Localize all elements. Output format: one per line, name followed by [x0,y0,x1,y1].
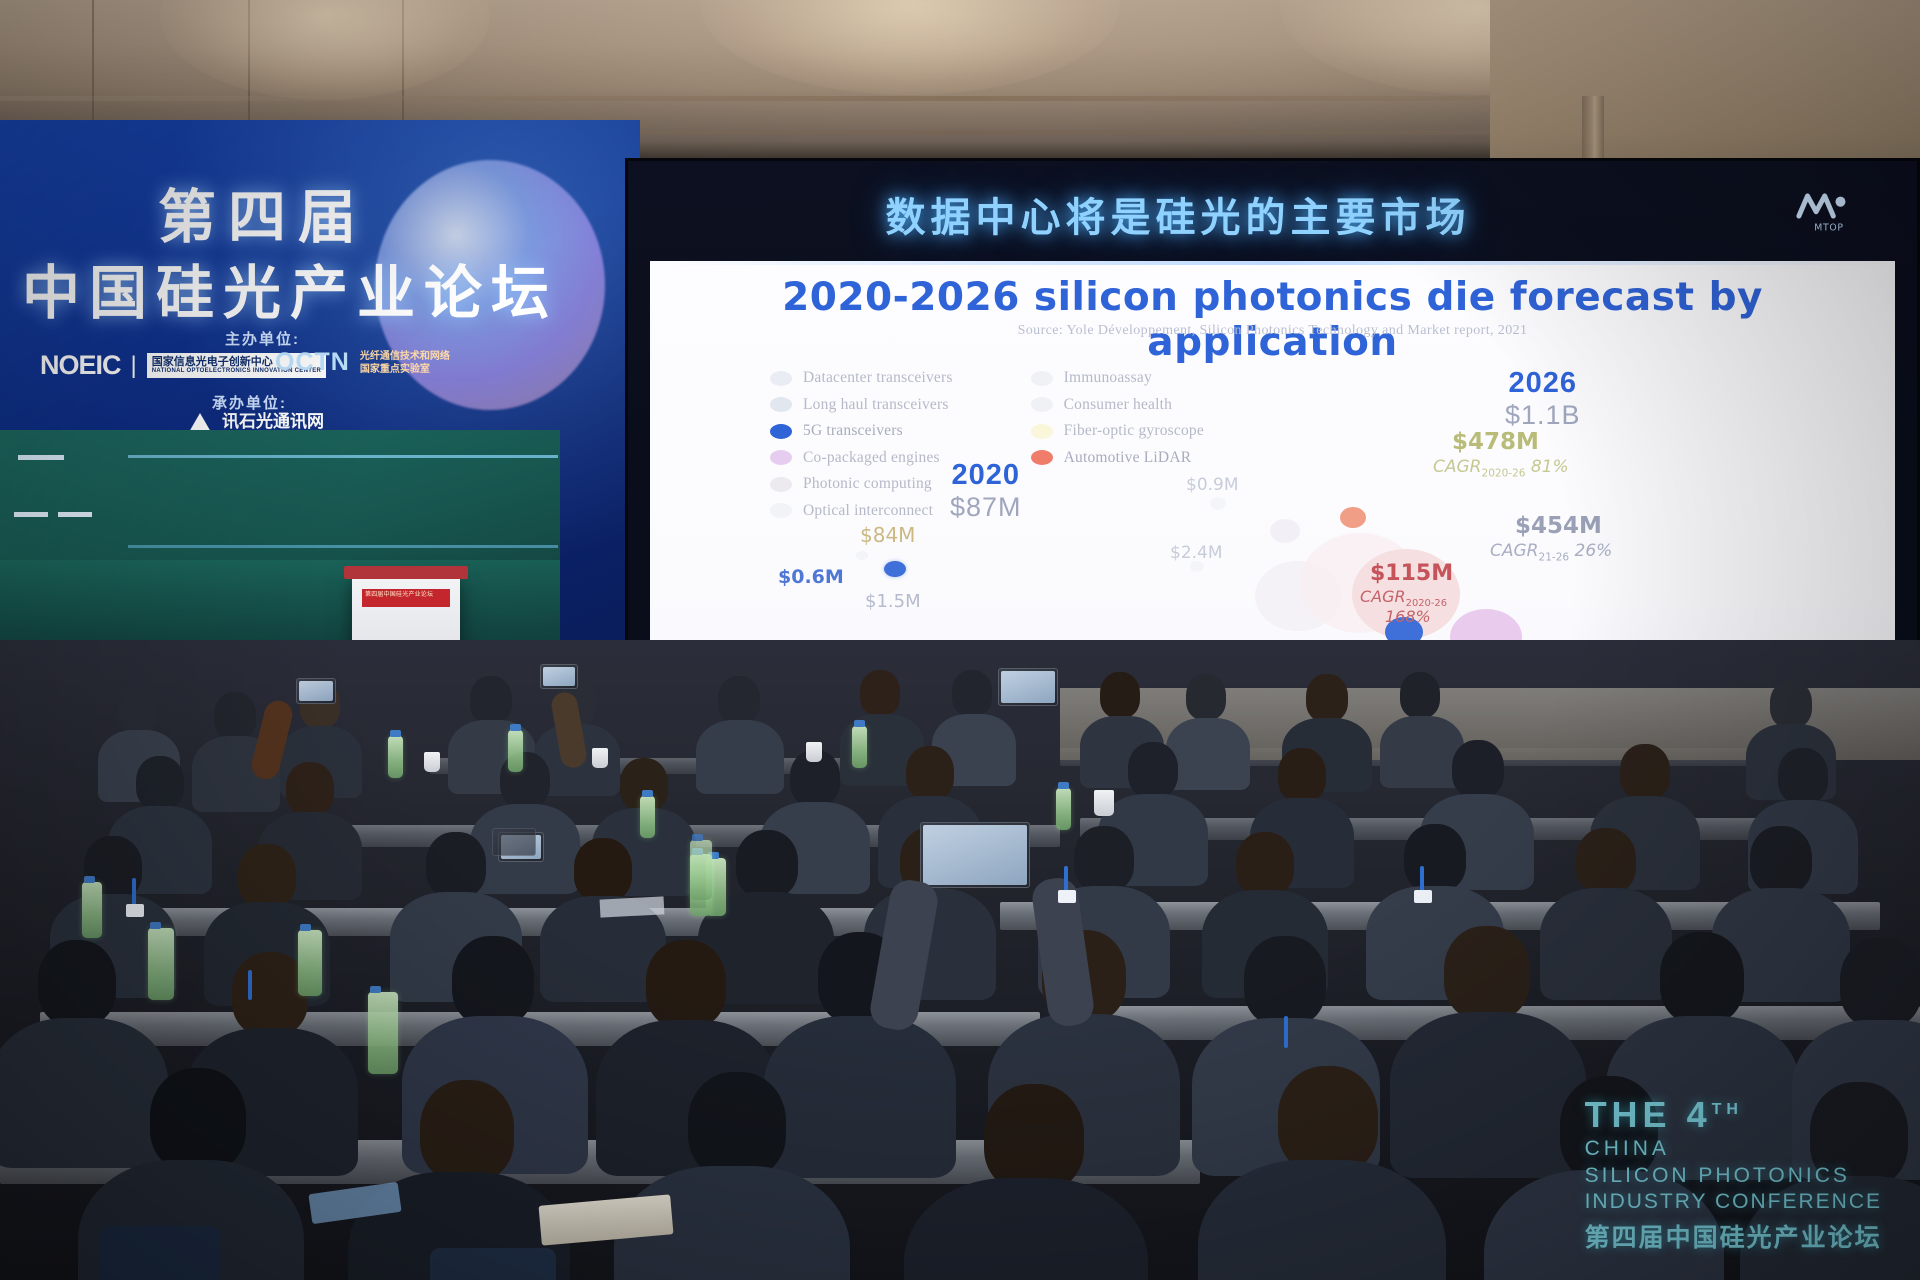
attendee-head [1278,748,1326,802]
year-marker-2026: 2026 $1.1B [1505,367,1581,431]
paper-cup [806,742,822,762]
attendee-phone[interactable] [998,668,1058,706]
lanyard [248,970,252,1000]
datalabel-454m-cagr: CAGR21-26 26% [1490,541,1612,563]
watermark-line2: CHINA [1585,1136,1882,1162]
lanyard [132,878,136,906]
attendee-body [764,1016,956,1178]
logo-noeic-text: NOEIC [40,350,121,381]
lectern-top-trim [344,566,468,579]
attendee-head [860,670,900,716]
banner-title-line2: 中国硅光产业论坛 [22,246,558,330]
attendee-head [1452,740,1504,798]
attendee-head [286,762,334,816]
logo-octn-cn2: 国家重点实验室 [360,364,430,375]
bottle-cap [854,720,865,727]
legend-item: Optical interconnect [770,502,953,520]
attendee-head [238,844,296,908]
attendee-head [1444,926,1530,1020]
attendee-head [1770,680,1812,728]
logo-octn-text: OCTN [275,348,350,377]
legend-swatch-optical-interconnect [770,503,792,518]
attendee-badge [126,904,144,917]
year-marker-2020: 2020 $87M [950,459,1022,523]
legend-item: Consumer health [1031,396,1204,414]
attendee-phone[interactable] [296,678,336,704]
legend-swatch-consumer-health [1031,397,1053,412]
attendee-body [1166,718,1250,790]
year-value: $87M [950,492,1022,523]
watermark-line1-sup: TH [1712,1101,1743,1118]
attendee-body [904,1178,1148,1280]
lanyard [1064,866,1068,892]
chart-title: 2020-2026 silicon photonics die forecast… [650,275,1895,365]
attendee-head [952,670,992,716]
banner-title-line1: 第四届 [158,170,368,254]
legend-label: Co-packaged engines [803,449,940,467]
stage-light-dash [18,455,64,460]
attendee-head [1128,742,1178,798]
legend-swatch-co-packaged-engines [770,450,792,465]
legend-item: Fiber-optic gyroscope [1031,422,1204,440]
bottle-cap [150,922,161,929]
attendee-head [232,952,308,1036]
bottle-cap [370,986,381,993]
attendee-badge [1414,890,1432,903]
logo-octn-cn-box: 光纤通信技术和网络 国家重点实验室 [360,350,450,376]
bubble-5g-2020 [884,561,906,577]
legend-label: Optical interconnect [803,502,933,520]
attendee-head [470,676,512,724]
attendee-head [984,1084,1084,1192]
legend-item: Long haul transceivers [770,396,953,414]
cagr-value: 81% [1531,457,1569,477]
attendee-head [906,746,954,800]
phone-screen [1001,671,1055,703]
watermark-line1-box: THE 4TH [1585,1094,1882,1136]
attendee-head [1750,826,1812,894]
legend-label: Automotive LiDAR [1064,449,1192,467]
datalabel-115m-cagr: CAGR2020-26 [1360,587,1447,609]
cagr-value: 26% [1575,541,1613,561]
attendee-head [1278,1066,1378,1174]
bubble-mark [856,551,868,560]
bottle-cap [390,730,401,737]
datalabel-2-4m: $2.4M [1170,543,1223,563]
attendee-head [1620,744,1670,800]
attendee-head [150,1068,246,1172]
attendee-phone[interactable] [540,664,578,689]
datalabel-454m: $454M [1515,513,1602,539]
attendee-head [688,1072,786,1178]
phone-screen [543,667,575,686]
legend-swatch-automotive-lidar [1031,450,1053,465]
attendee-head [574,838,632,902]
stage-light-strip [128,545,558,548]
legend-item: Datacenter transceivers [770,369,953,387]
legend-label: Photonic computing [803,475,932,493]
phone-screen [299,681,333,701]
cagr-word: CAGR [1360,587,1406,606]
datalabel-478m-cagr: CAGR2020-26 81% [1433,457,1569,479]
attendee-head [736,830,798,898]
attendee-head [1236,832,1294,896]
datalabel-115m-cagr-value: 168% [1385,607,1431,626]
logo-noeic-cn: 国家信息光电子创新中心 [152,356,273,368]
legend-label: Consumer health [1064,396,1172,414]
legend-swatch-5g-transceivers [770,424,792,439]
logo-iccsz-name: 讯石光通讯网 [222,412,324,431]
legend-swatch-datacenter-transceivers [770,371,792,386]
legend-item: Co-packaged engines [770,449,953,467]
legend-item: 5G transceivers [770,422,953,440]
attendee-head [1186,674,1226,720]
stage-light-dash [58,512,92,517]
logo-octn: OCTN 光纤通信技术和网络 国家重点实验室 [275,348,450,377]
attendee-head [1576,828,1636,894]
watermark-line3: SILICON PHOTONICS [1585,1163,1882,1189]
legend-item: Immunoassay [1031,369,1204,387]
attendee-head [118,688,158,734]
attendee-head [452,936,534,1026]
bubble-automotive-lidar-2026 [1340,507,1366,528]
legend-swatch-long-haul-transceivers [770,397,792,412]
legend-label: Fiber-optic gyroscope [1064,422,1204,440]
attendee-head [646,940,726,1028]
banner-organizer-label: 承办单位: [212,392,287,413]
datalabel-1-5m: $1.5M [865,591,921,612]
year-label: 2026 [1505,367,1581,400]
watermark-line5: 第四届中国硅光产业论坛 [1585,1218,1882,1254]
bottle-cap [692,834,703,841]
phone-screen [923,825,1027,885]
legend-label: 5G transceivers [803,422,903,440]
legend-item: Photonic computing [770,475,953,493]
attendee-phone[interactable] [492,828,536,856]
mtop-logo-icon: MTOP [1786,185,1872,237]
chair-back [100,1226,220,1280]
legend-swatch-photonic-computing [770,477,792,492]
year-value: $1.1B [1505,400,1581,431]
datalabel-478m: $478M [1452,429,1539,455]
legend-swatch-immunoassay [1031,371,1053,386]
attendee-body [0,1018,168,1168]
chair-back [430,1248,556,1280]
legend-swatch-fiber-optic-gyroscope [1031,424,1053,439]
attendee-head [1400,672,1440,718]
legend-label: Long haul transceivers [803,396,949,414]
banner-host-label: 主办单位: [225,328,300,349]
paper-cup [1094,790,1114,816]
legend-column-right: Immunoassay Consumer health Fiber-optic … [1031,369,1204,520]
stage-light-dash [14,512,48,517]
attendee-badge [1058,890,1076,903]
attendee-head [1074,826,1134,892]
attendee-body [1540,888,1672,1000]
datalabel-0-6m: $0.6M [778,566,844,588]
attendee-head [718,676,760,724]
watermark-line1: THE 4 [1585,1094,1712,1135]
slide-top-highlight [650,261,1895,265]
lanyard [1284,1016,1288,1048]
bottle-cap [510,724,521,731]
lectern-banner: 第四届中国硅光产业论坛 [362,589,450,607]
attendee-head [214,692,256,740]
attendee-body [696,720,784,794]
paper-cup [592,748,608,768]
attendee-head [420,1080,514,1182]
attendee-head [136,756,184,810]
chart-source: Source: Yole Développement, Silicon Phot… [650,323,1895,339]
attendee-head [1660,932,1744,1024]
legend-item: Automotive LiDAR [1031,449,1204,467]
legend-column-left: Datacenter transceivers Long haul transc… [770,369,953,520]
attendee-head [1840,938,1920,1028]
cagr-word: CAGR [1490,541,1539,561]
slide-headline-cn: 数据中心将是硅光的主要市场 [628,185,1728,243]
watermark-line4: INDUSTRY CONFERENCE [1585,1189,1882,1215]
lanyard [1420,866,1424,892]
attendee-body [1198,1160,1446,1280]
svg-text:MTOP: MTOP [1814,222,1844,233]
year-label: 2020 [950,459,1022,492]
datalabel-115m: $115M [1370,561,1453,586]
bottle-cap [84,876,95,883]
attendee-head [1778,748,1828,804]
stage-light-strip [128,455,558,458]
attendee-body [1390,1012,1586,1178]
attendee-phone-large[interactable] [920,822,1030,888]
cagr-range: 21-26 [1539,551,1570,563]
attendee-head [38,940,116,1026]
datalabel-84m: $84M [860,523,915,547]
conference-photo-scene: 第四届 中国硅光产业论坛 主办单位: NOEIC | 国家信息光电子创新中心 N… [0,0,1920,1280]
attendee-head [1244,936,1326,1026]
bottle-cap [300,924,311,931]
lectern-banner-text: 第四届中国硅光产业论坛 [362,589,450,602]
bottle-cap [642,790,653,797]
paper-cup [424,752,440,772]
bottle-cap [1058,782,1069,789]
bubble-mark [1270,519,1300,543]
cagr-range: 2020-26 [1482,467,1526,479]
legend-label: Datacenter transceivers [803,369,953,387]
attendee-head [426,832,486,898]
cagr-word: CAGR [1433,457,1482,477]
attendee-head [1100,672,1140,718]
logo-octn-cn1: 光纤通信技术和网络 [360,351,450,362]
paper-sheet [600,896,665,917]
event-watermark: THE 4TH CHINA SILICON PHOTONICS INDUSTRY… [1585,1094,1882,1254]
legend-label: Immunoassay [1064,369,1152,387]
attendee-head [1306,674,1348,722]
datalabel-0-9m: $0.9M [1186,475,1239,495]
attendee-head [1404,824,1466,892]
bubble-mark [1210,497,1226,510]
